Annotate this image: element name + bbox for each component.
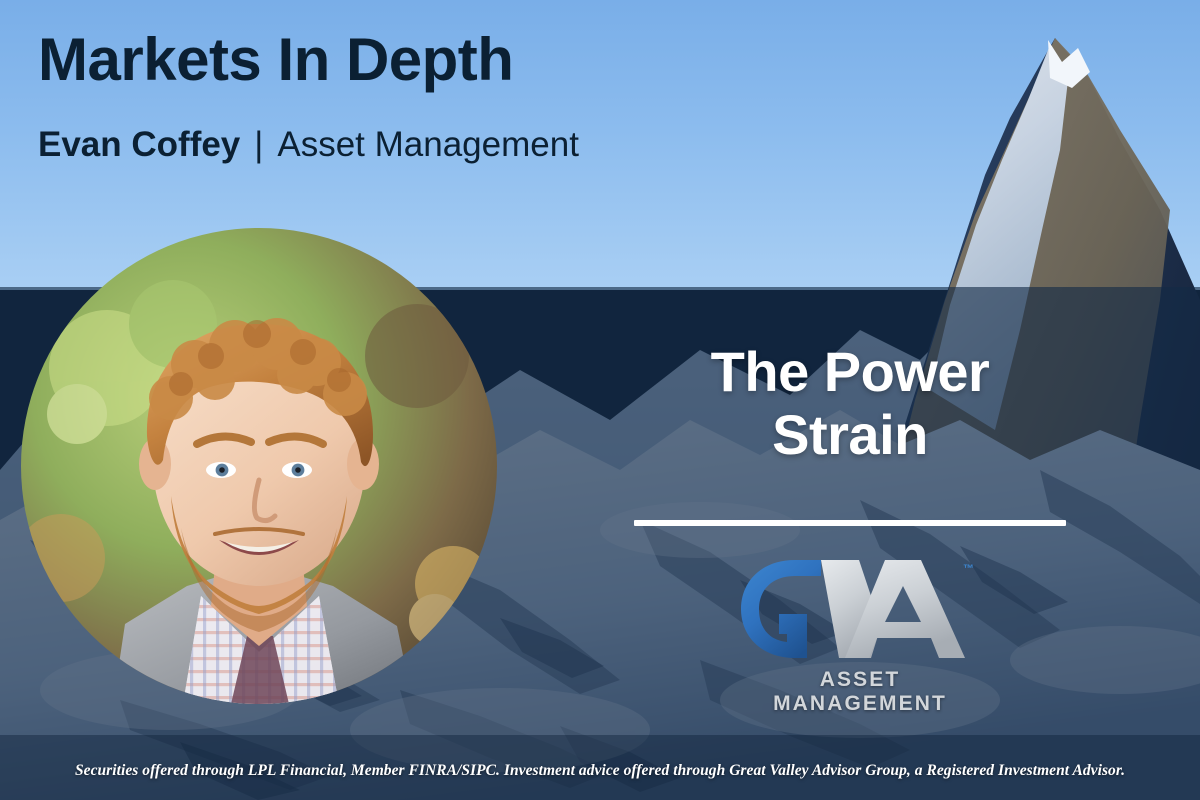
- gva-logo: ™ ASSET MANAGEMENT: [735, 556, 985, 716]
- headline-line-2: Strain: [620, 403, 1080, 466]
- gva-logo-mark: ™: [735, 556, 985, 662]
- byline-separator: |: [240, 126, 277, 165]
- page-title: Markets In Depth: [38, 28, 513, 91]
- logo-letter-g: [741, 560, 821, 658]
- marketing-banner: Markets In Depth Evan Coffey | Asset Man…: [0, 0, 1200, 800]
- headline-divider: [634, 520, 1066, 526]
- logo-tagline: ASSET MANAGEMENT: [735, 668, 985, 716]
- department-label: Asset Management: [277, 126, 579, 165]
- headline-line-1: The Power: [620, 340, 1080, 403]
- portrait-photo: [21, 228, 497, 704]
- author-name: Evan Coffey: [38, 126, 240, 165]
- disclaimer-text: Securities offered through LPL Financial…: [0, 762, 1200, 780]
- article-headline: The Power Strain: [620, 340, 1080, 467]
- byline: Evan Coffey | Asset Management: [38, 126, 579, 165]
- logo-trademark-icon: ™: [963, 563, 974, 575]
- avatar: [21, 228, 497, 704]
